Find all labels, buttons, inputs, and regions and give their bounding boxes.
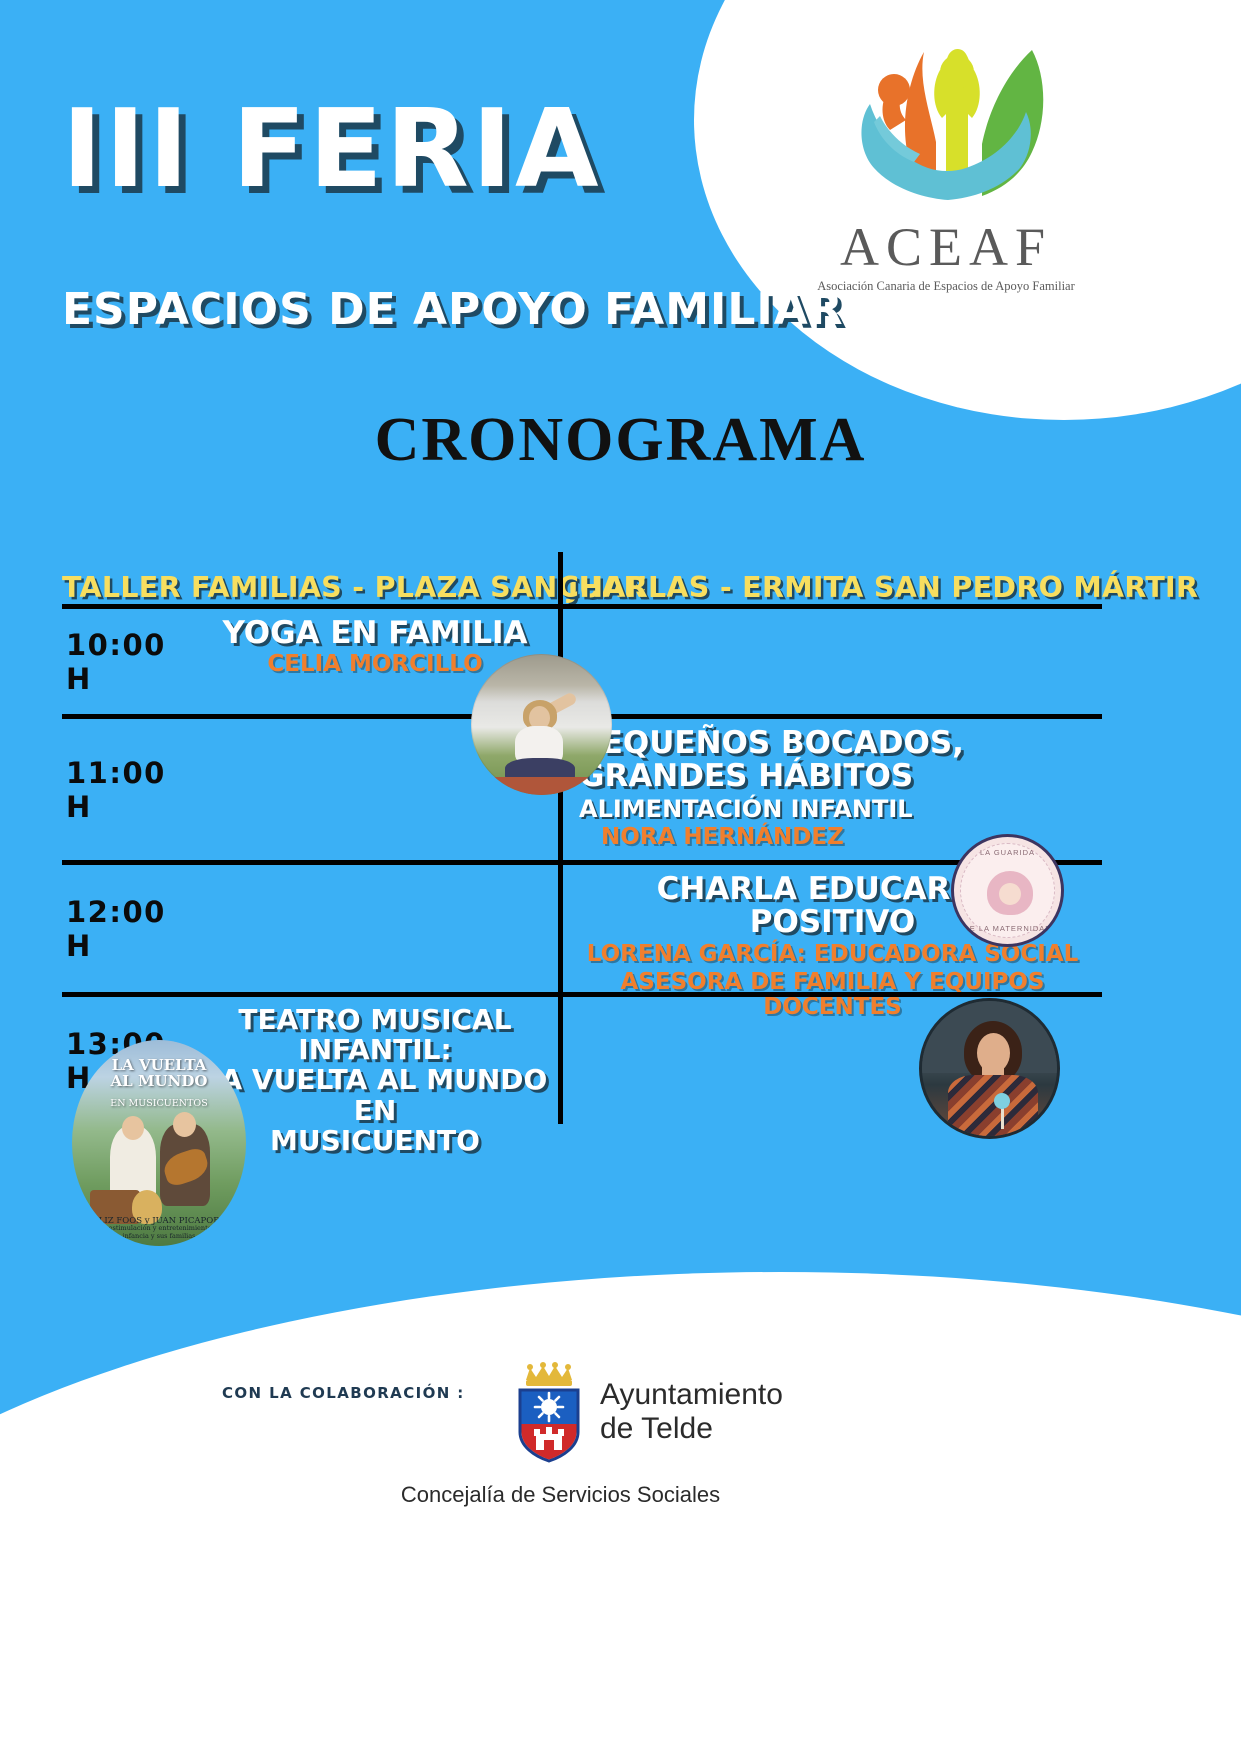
event-title-teatro-l1: TEATRO MUSICAL INFANTIL: [198,1005,552,1065]
poster-canvas: ACEAF Asociación Canaria de Espacios de … [0,0,1241,1755]
row-time-1100: 11:00 H [62,719,192,860]
photo-detail [471,777,612,795]
column-header-taller: TALLER FAMILIAS - PLAZA SAN JUAN [62,571,558,604]
telde-coat-of-arms-icon [512,1360,586,1464]
header-divider [558,552,563,604]
teatro-poster-sub: EN MUSICUENTOS [72,1098,246,1109]
aceaf-wordmark: ACEAF [812,220,1080,274]
badge-text-bottom: DE LA MATERNIDAD [954,924,1061,933]
department-label: Concejalía de Servicios Sociales [0,1482,1241,1508]
ayuntamiento-logo-group: Ayuntamiento de Telde [512,1360,783,1464]
event-subtitle-alimentacion: ALIMENTACIÓN INFANTIL [579,796,1096,823]
column-header-charlas: CHARLAS - ERMITA SAN PEDRO MÁRTIR [558,571,1198,604]
bottom-white-swoosh [0,1272,1241,1755]
photo-detail [173,1112,196,1137]
collaboration-label: CON LA COLABORACIÓN : [222,1384,465,1402]
row-left-cell-1200 [192,865,558,992]
department-label-text: Concejalía de Servicios Sociales [401,1482,720,1507]
aceaf-logo: ACEAF Asociación Canaria de Espacios de … [812,32,1080,300]
section-title-cronograma: CRONOGRAMA [0,405,1241,476]
photo-detail [994,1093,1010,1109]
row-right-cell-1000 [558,609,1102,714]
page-title: III FERIA [62,96,602,204]
event-title-teatro-l2: LA VUELTA AL MUNDO EN [198,1065,552,1125]
photo-teatro-poster: LA VUELTA AL MUNDO EN MUSICUENTOS FELIZ … [72,1040,246,1246]
table-row: 12:00 H CHARLA EDUCAR EN POSITIVO LORENA… [62,860,1102,992]
event-title-yoga: YOGA EN FAMILIA [198,617,552,650]
ayuntamiento-line1: Ayuntamiento [600,1378,783,1412]
row-time-1200: 12:00 H [62,865,192,992]
photo-detail [948,1075,1038,1139]
aceaf-logo-mark [836,32,1056,218]
photo-celia-yoga [471,654,612,795]
schedule-header-row: TALLER FAMILIAS - PLAZA SAN JUAN CHARLAS… [62,552,1102,604]
event-title-bocados: PEQUEÑOS BOCADOS, GRANDES HÁBITOS [579,727,1096,794]
aceaf-tagline: Asociación Canaria de Espacios de Apoyo … [812,279,1080,294]
badge-text-top: LA GUARIDA [954,848,1061,857]
badge-guarida-maternidad: LA GUARIDA DE LA MATERNIDAD [951,834,1064,947]
badge-ring-text: LA GUARIDA DE LA MATERNIDAD [954,837,1061,944]
photo-detail [122,1116,144,1140]
teatro-poster-line2: AL MUNDO [72,1074,246,1090]
teatro-poster-credit2: música, estimulación y entretenimiento p… [72,1224,246,1240]
photo-lorena-garcia [919,998,1060,1139]
ayuntamiento-line2: de Telde [600,1412,783,1446]
row-time-1000: 10:00 H [62,609,192,714]
page-subtitle: ESPACIOS DE APOYO FAMILIAR [62,288,844,332]
row-left-cell-1300: TEATRO MUSICAL INFANTIL: LA VUELTA AL MU… [192,997,558,1124]
photo-detail [1001,1107,1004,1129]
event-title-teatro-l3: MUSICUENTO [198,1126,552,1156]
ayuntamiento-name: Ayuntamiento de Telde [600,1378,783,1445]
teatro-poster-title: LA VUELTA AL MUNDO [72,1058,246,1090]
